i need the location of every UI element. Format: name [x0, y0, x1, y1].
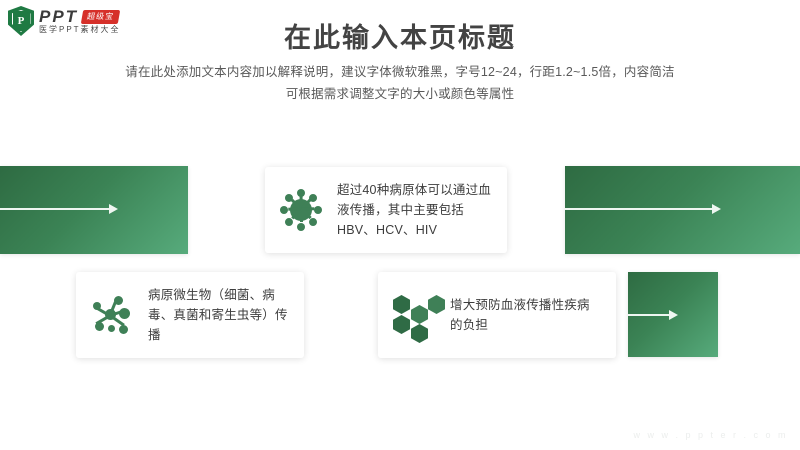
hexagon-cluster-icon [390, 291, 438, 339]
info-card-text: 增大预防血液传播性疾病的负担 [450, 295, 602, 336]
virus-icon-shape [277, 186, 325, 234]
subtitle-line-1: 请在此处添加文本内容加以解释说明，建议字体微软雅黑，字号12~24，行距1.2~… [0, 62, 800, 84]
subtitle-line-2: 可根据需求调整文字的大小或颜色等属性 [0, 84, 800, 106]
page-title: 在此输入本页标题 [0, 16, 800, 55]
info-card-prevention-burden[interactable]: 增大预防血液传播性疾病的负担 [378, 272, 616, 358]
decorative-band-right [565, 166, 800, 254]
info-card-text: 病原微生物（细菌、病毒、真菌和寄生虫等）传播 [148, 285, 290, 346]
page-subtitle: 请在此处添加文本内容加以解释说明，建议字体微软雅黑，字号12~24，行距1.2~… [0, 62, 800, 106]
footer-watermark: w w w . p p t e r . c o m [633, 430, 788, 440]
molecule-icon-shape [88, 291, 136, 339]
decorative-band-left [0, 166, 188, 254]
info-card-microorganisms[interactable]: 病原微生物（细菌、病毒、真菌和寄生虫等）传播 [76, 272, 304, 358]
hexagon-cluster-shape [390, 291, 438, 339]
molecule-icon [88, 291, 136, 339]
info-card-pathogens[interactable]: 超过40种病原体可以通过血液传播，其中主要包括HBV、HCV、HIV [265, 167, 507, 253]
virus-icon [277, 186, 325, 234]
decorative-band-lower [628, 272, 718, 357]
info-card-text: 超过40种病原体可以通过血液传播，其中主要包括HBV、HCV、HIV [337, 180, 493, 241]
